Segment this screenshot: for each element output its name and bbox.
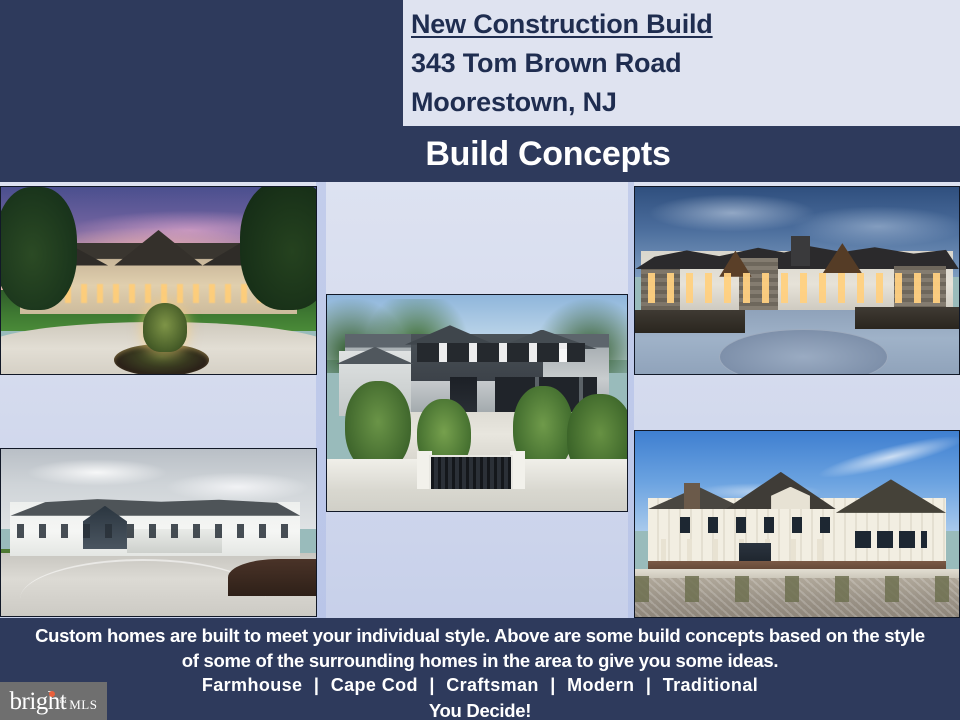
trademark-icon: ™ [59,690,66,715]
chimney [684,483,700,509]
cloud [165,472,310,502]
caption-line-2: of some of the surrounding homes in the … [0,648,960,673]
bright-mls-logo: bright ™ MLS [0,682,107,720]
planting-bed [855,307,960,329]
style-modern: Modern [567,675,634,695]
desert-shrubs [635,576,959,602]
upper-windows [680,517,842,534]
photo-bottom-left[interactable] [0,448,317,617]
gallery-column-divider-left [316,182,326,618]
address-panel: New Construction Build 343 Tom Brown Roa… [403,0,960,126]
windows [17,524,294,537]
street-strip [327,489,627,512]
upper-windows [417,343,585,362]
cloud [791,206,960,247]
logo-word-text: bright [10,688,67,715]
mulch-bed [228,559,317,596]
photo-center[interactable] [326,294,628,512]
style-traditional: Traditional [663,675,758,695]
header-title: New Construction Build [411,5,960,44]
separator: | [640,675,657,695]
logo-mls-text: MLS [69,690,97,713]
style-farmhouse: Farmhouse [202,675,303,695]
tree-left [0,187,77,310]
planting-bed [635,310,745,332]
caption-line-4: You Decide! [0,698,960,720]
feature-tree [143,303,187,352]
cloud [26,459,168,486]
caption-line-1: Custom homes are built to meet your indi… [0,623,960,648]
slide-canvas: New Construction Build 343 Tom Brown Roa… [0,0,960,720]
tree-right [240,186,317,310]
separator: | [544,675,561,695]
lit-windows [648,273,946,303]
style-craftsman: Craftsman [446,675,539,695]
header-street-address: 343 Tom Brown Road [411,44,960,83]
photo-top-left[interactable] [0,186,317,375]
logo-wordmark: bright ™ [10,689,67,714]
logo-accent-dot-icon [49,691,55,697]
separator: | [423,675,440,695]
caption-block: Custom homes are built to meet your indi… [0,618,960,720]
chimney [791,236,810,266]
separator: | [308,675,325,695]
style-cape-cod: Cape Cod [331,675,418,695]
photo-top-right[interactable] [634,186,960,375]
right-windows [855,531,926,548]
paver-medallion [719,329,887,375]
header-city-state: Moorestown, NJ [411,83,960,122]
style-list: Farmhouse | Cape Cod | Craftsman | Moder… [0,673,960,698]
build-concepts-title: Build Concepts [403,129,693,179]
photo-bottom-right[interactable] [634,430,960,618]
